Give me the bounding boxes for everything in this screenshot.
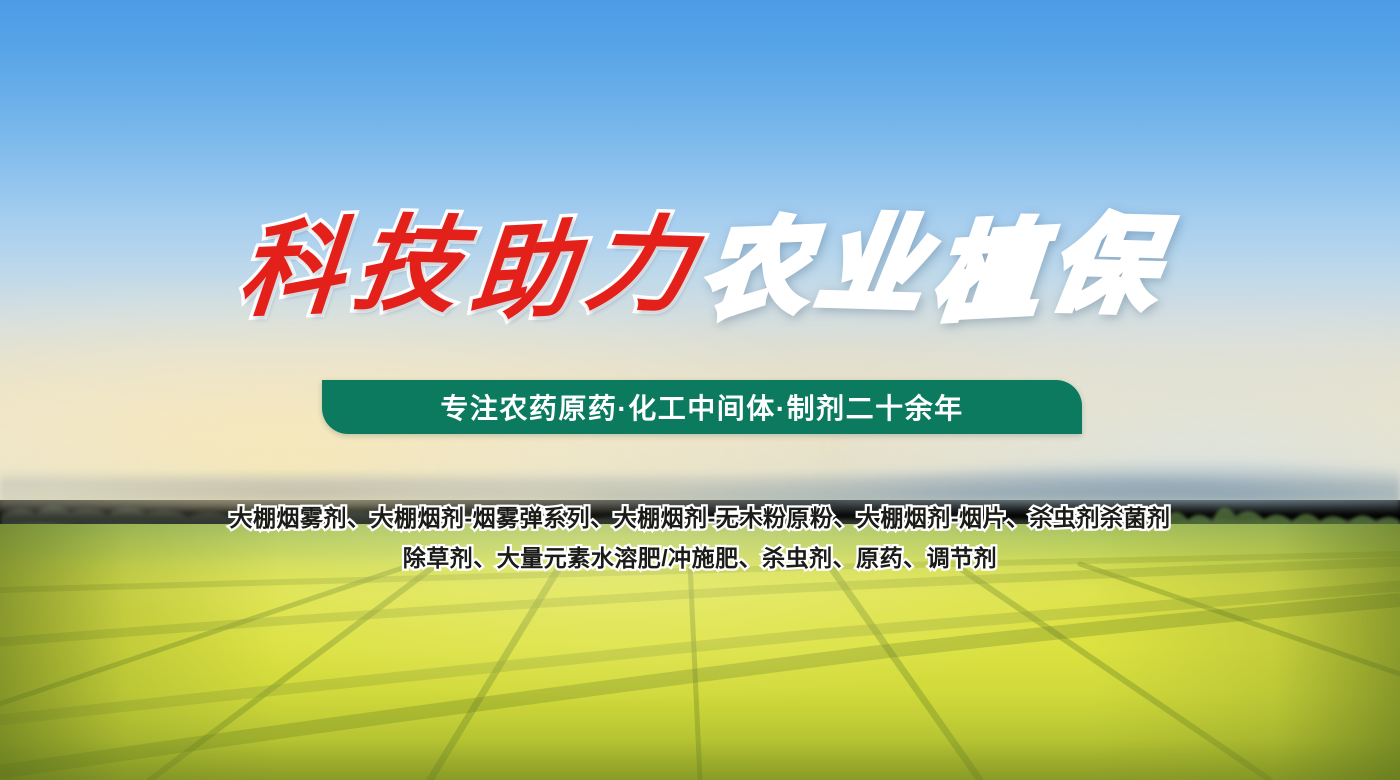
headline-red-phrase: 科技助力 — [236, 213, 700, 328]
product-line: 除草剂、大量元素水溶肥/冲施肥、杀虫剂、原药、调节剂 — [0, 538, 1400, 578]
promo-banner: 科技助力农业植保 专注农药原药·化工中间体·制剂二十余年 大棚烟雾剂、大棚烟剂-… — [0, 0, 1400, 780]
headline-char: 助 — [462, 212, 589, 336]
subtitle-pill: 专注农药原药·化工中间体·制剂二十余年 — [322, 380, 1082, 434]
headline-char: 保 — [1040, 206, 1173, 327]
headline-char: 业 — [808, 206, 941, 327]
headline-char: 科 — [231, 210, 357, 332]
headline-char: 植 — [926, 212, 1053, 336]
banner-content: 科技助力农业植保 专注农药原药·化工中间体·制剂二十余年 大棚烟雾剂、大棚烟剂-… — [0, 0, 1400, 780]
subtitle-text: 专注农药原药·化工中间体·制剂二十余年 — [440, 387, 963, 427]
headline-char: 农 — [695, 210, 821, 332]
banner-headline: 科技助力农业植保 — [0, 212, 1400, 330]
headline-char: 力 — [576, 206, 709, 327]
product-list: 大棚烟雾剂、大棚烟剂-烟雾弹系列、大棚烟剂-无木粉原粉、大棚烟剂-烟片、杀虫剂杀… — [0, 498, 1400, 578]
headline-green-phrase: 农业植保 — [700, 213, 1164, 328]
product-line: 大棚烟雾剂、大棚烟剂-烟雾弹系列、大棚烟剂-无木粉原粉、大棚烟剂-烟片、杀虫剂杀… — [0, 498, 1400, 538]
headline-char: 技 — [344, 206, 477, 327]
